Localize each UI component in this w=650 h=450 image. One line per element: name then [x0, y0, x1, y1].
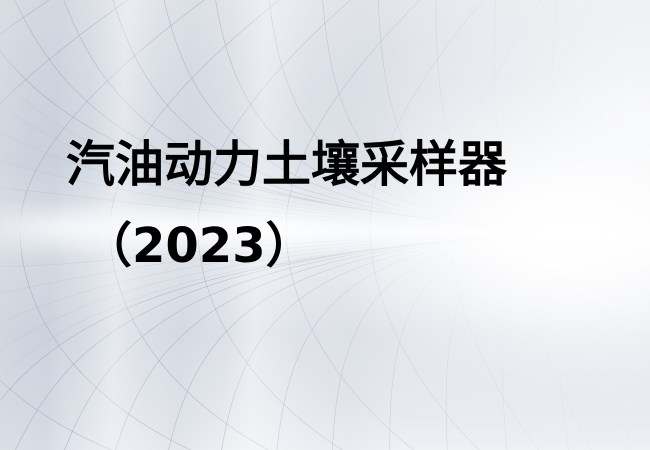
slide-title-block: 汽油动力土壤采样器 （2023）	[0, 140, 650, 270]
slide-title-primary: 汽油动力土壤采样器	[66, 140, 650, 189]
title-slide: 汽油动力土壤采样器 （2023）	[0, 0, 650, 450]
slide-title-year: （2023）	[84, 222, 650, 270]
